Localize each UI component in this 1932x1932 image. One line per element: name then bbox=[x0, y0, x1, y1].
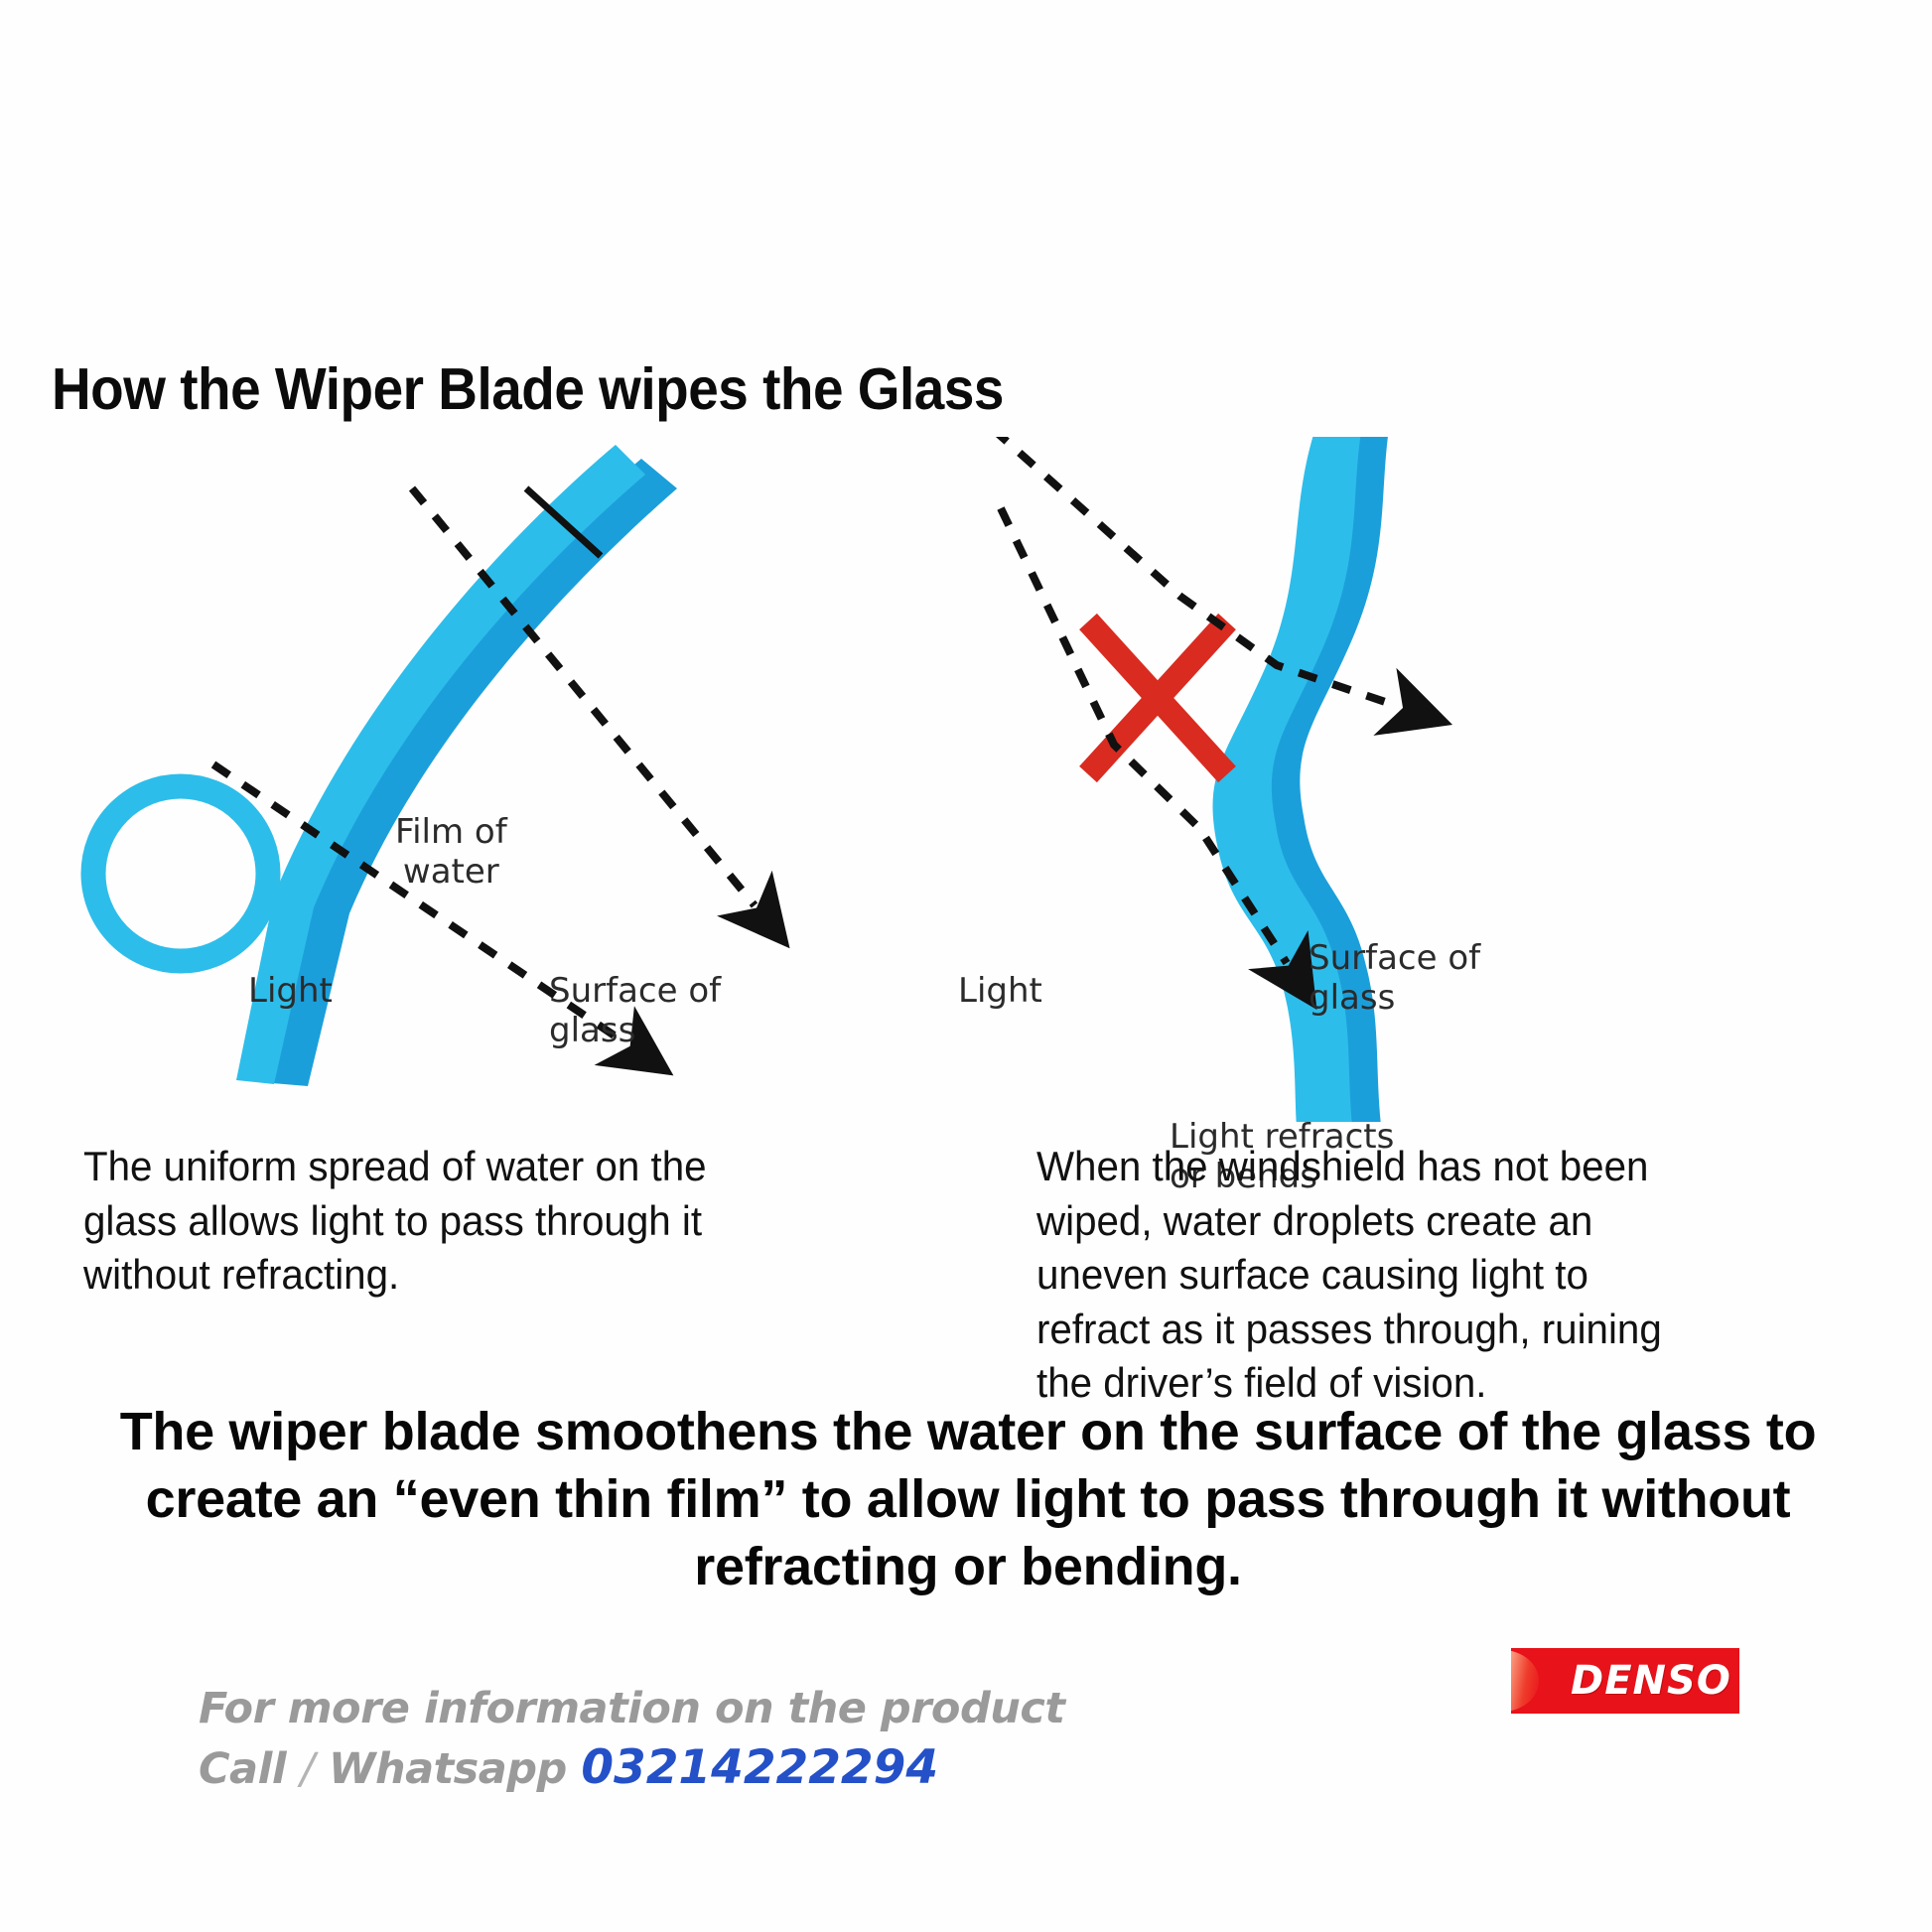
left-diagram-illustration bbox=[60, 437, 973, 1122]
label-surface-of-glass-left: Surface of glass bbox=[549, 971, 721, 1050]
footer-call-label: Call bbox=[199, 1744, 286, 1794]
footer-contact: For more information on the product Call… bbox=[199, 1682, 1064, 1798]
label-surface-of-glass-right: Surface of glass bbox=[1309, 938, 1480, 1018]
conclusion-statement: The wiper blade smoothens the water on t… bbox=[50, 1398, 1886, 1600]
right-caption-paragraph: When the windshield has not been wiped, … bbox=[1036, 1140, 1704, 1411]
left-caption-paragraph: The uniform spread of water on the glass… bbox=[83, 1140, 751, 1303]
label-light-right: Light bbox=[958, 971, 1042, 1011]
infographic-page: How the Wiper Blade wipes the Glass Film… bbox=[0, 0, 1932, 1932]
water-droplet-ring-icon bbox=[93, 786, 268, 961]
right-diagram-illustration bbox=[993, 437, 1916, 1122]
label-light-left: Light bbox=[248, 971, 333, 1011]
red-x-mark-icon bbox=[1088, 621, 1227, 774]
footer-line-2: Call / Whatsapp 03214222294 bbox=[199, 1737, 1064, 1798]
denso-wordmark: DENSO bbox=[1571, 1658, 1731, 1704]
footer-line-1: For more information on the product bbox=[199, 1682, 1064, 1737]
footer-separator: / bbox=[301, 1744, 315, 1794]
page-title: How the Wiper Blade wipes the Glass bbox=[52, 355, 1004, 423]
label-film-of-water: Film of water bbox=[395, 812, 507, 892]
footer-whatsapp-label: Whatsapp bbox=[329, 1744, 567, 1794]
footer-phone-number[interactable]: 03214222294 bbox=[581, 1740, 938, 1795]
denso-logo: DENSO bbox=[1511, 1648, 1739, 1714]
diagram-area: Film of water Light Surface of glass bbox=[0, 437, 1932, 1122]
uneven-water-band-shadow bbox=[1022, 437, 1702, 1122]
